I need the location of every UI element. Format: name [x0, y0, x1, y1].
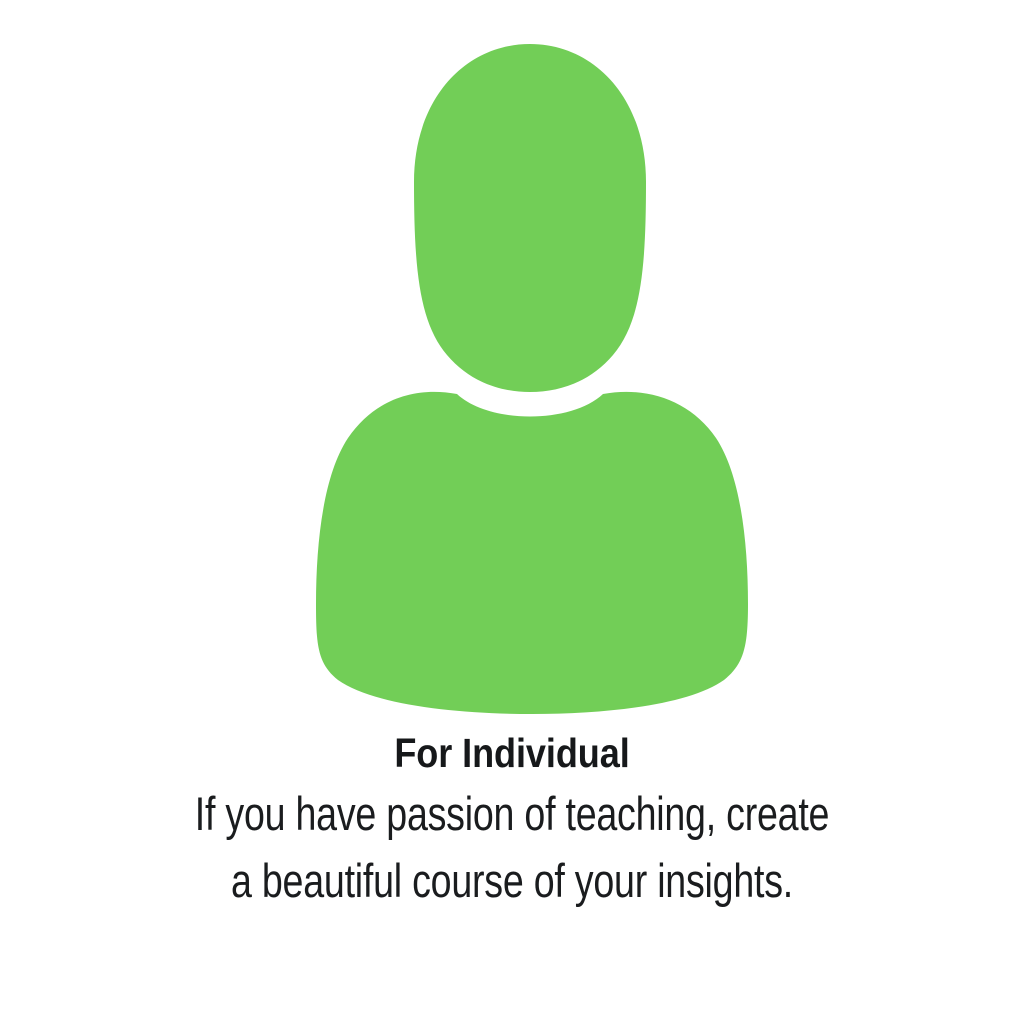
card-title: For Individual	[61, 726, 962, 780]
card-text-block: For Individual If you have passion of te…	[0, 726, 1024, 914]
card-description: If you have passion of teaching, create …	[0, 780, 1024, 914]
person-body-icon	[316, 392, 748, 714]
person-avatar-illustration	[0, 0, 1024, 730]
person-head-icon	[414, 44, 646, 392]
card-description-line-2: a beautiful course of your insights.	[102, 847, 921, 914]
card-description-line-1: If you have passion of teaching, create	[102, 780, 921, 847]
for-individual-card: For Individual If you have passion of te…	[0, 0, 1024, 1024]
